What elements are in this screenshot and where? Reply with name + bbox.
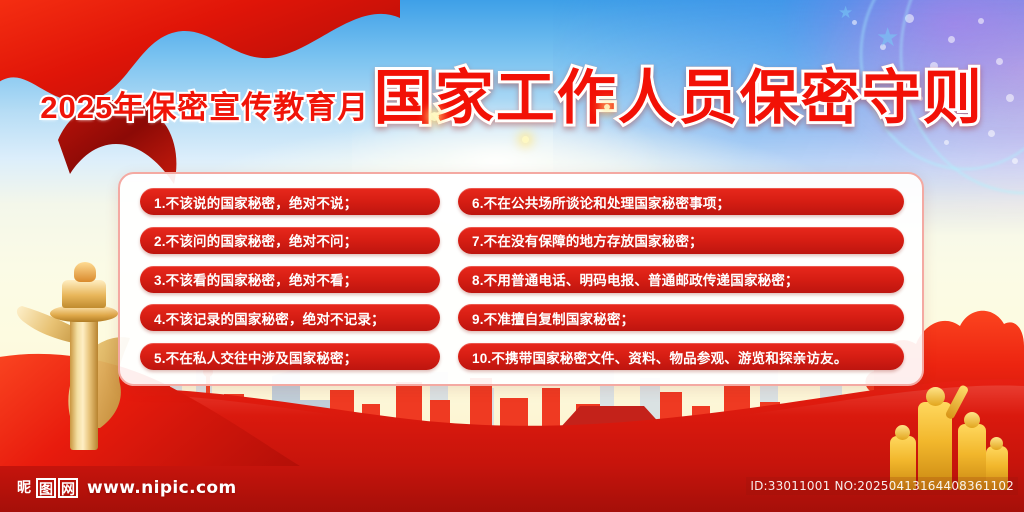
logo-char-3: 网 [58, 478, 78, 498]
star-icon: ★ [838, 4, 853, 21]
site-watermark: 昵 图 网 www.nipic.com [14, 478, 237, 498]
logo-char-2: 图 [36, 478, 56, 498]
rules-panel: 1.不该说的国家秘密，绝对不说； 2.不该问的国家秘密，绝对不问； 3.不该看的… [118, 172, 924, 386]
rule-item[interactable]: 5.不在私人交往中涉及国家秘密； [140, 343, 440, 370]
rule-item[interactable]: 6.不在公共场所谈论和处理国家秘密事项； [458, 188, 904, 215]
rule-item[interactable]: 9.不准擅自复制国家秘密； [458, 304, 904, 331]
huabiao-cap [62, 280, 106, 308]
poster-subtitle: 2025年保密宣传教育月 [40, 82, 369, 127]
rule-item[interactable]: 4.不该记录的国家秘密，绝对不记录； [140, 304, 440, 331]
huabiao-beast [74, 262, 96, 282]
rule-item[interactable]: 1.不该说的国家秘密，绝对不说； [140, 188, 440, 215]
rule-item[interactable]: 8.不用普通电话、明码电报、普通邮政传递国家秘密； [458, 266, 904, 293]
watermark-url: www.nipic.com [87, 478, 237, 498]
poster-canvas: ★ ★ 2025年保密宣传教育月 国家工作人员保密守则 [0, 0, 1024, 512]
rules-column-left: 1.不该说的国家秘密，绝对不说； 2.不该问的国家秘密，绝对不问； 3.不该看的… [140, 188, 440, 370]
nipic-logo: 昵 图 网 [14, 478, 78, 498]
statue-head [990, 437, 1003, 450]
rule-item[interactable]: 2.不该问的国家秘密，绝对不问； [140, 227, 440, 254]
rule-item[interactable]: 3.不该看的国家秘密，绝对不看； [140, 266, 440, 293]
statue-head [964, 412, 980, 428]
image-id-code: ID:33011001 NO:20250413164408361102 [746, 477, 1018, 495]
poster-main-title: 国家工作人员保密守则 [374, 50, 984, 135]
title-block: 2025年保密宣传教育月 国家工作人员保密守则 [0, 44, 1024, 135]
logo-char-1: 昵 [14, 478, 34, 498]
heroic-statue-group [870, 382, 1020, 490]
statue-head [926, 387, 945, 406]
rules-column-right: 6.不在公共场所谈论和处理国家秘密事项； 7.不在没有保障的地方存放国家秘密； … [458, 188, 904, 370]
rule-item[interactable]: 7.不在没有保障的地方存放国家秘密； [458, 227, 904, 254]
rule-item[interactable]: 10.不携带国家秘密文件、资料、物品参观、游览和探亲访友。 [458, 343, 904, 370]
statue-head [895, 425, 910, 440]
